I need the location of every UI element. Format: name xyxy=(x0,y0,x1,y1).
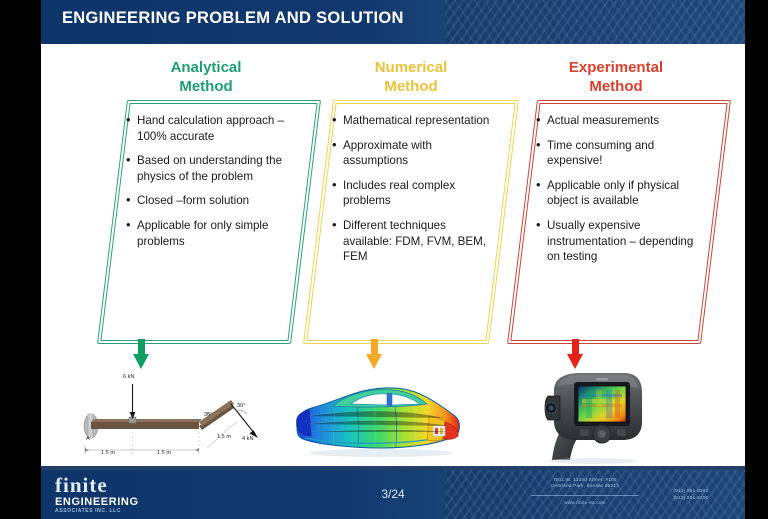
column-heading-analytical: Analytical Method xyxy=(111,58,301,96)
down-arrow-icon-experimental xyxy=(567,339,583,369)
beam-label-angle-2: 30° xyxy=(237,403,245,409)
bullet-list-analytical: Hand calculation approach – 100% accurat… xyxy=(126,113,292,249)
footer-address-block: 7811 W. 132nd Street, #100 Overland Park… xyxy=(525,477,645,506)
bullet-list-experimental: Actual measurements Time consuming and e… xyxy=(536,113,702,265)
content-box-analytical: Hand calculation approach – 100% accurat… xyxy=(97,100,321,344)
footer-phone-line2: (913) 851-8400 xyxy=(655,495,727,502)
list-item: Time consuming and expensive! xyxy=(536,138,702,169)
list-item: Applicable only if physical object is av… xyxy=(536,178,702,209)
list-item: Applicable for only simple problems xyxy=(126,218,292,249)
list-item: Hand calculation approach – 100% accurat… xyxy=(126,113,292,144)
beam-label-load-inclined: 4 kN xyxy=(242,436,254,442)
page-title: ENGINEERING PROBLEM AND SOLUTION xyxy=(62,9,404,28)
beam-label-angle-1: 30° xyxy=(204,412,212,418)
bullet-list-numerical: Mathematical representation Approximate … xyxy=(332,113,490,265)
column-heading-experimental-line2: Method xyxy=(521,77,711,96)
thermal-camera-svg xyxy=(536,366,656,464)
list-item: Closed –form solution xyxy=(126,193,292,209)
slide-footer-bar: finite ENGINEERING ASSOCIATES INC. LLC 3… xyxy=(41,470,745,519)
column-heading-numerical: Numerical Method xyxy=(316,58,506,96)
footer-rule xyxy=(531,495,639,496)
beam-label-dim-1: 1.5 m xyxy=(101,450,115,456)
list-item: Based on understanding the physics of th… xyxy=(126,153,292,184)
column-heading-experimental-line1: Experimental xyxy=(521,58,711,77)
beam-label-dim-3: 1.5 m xyxy=(217,434,231,440)
beam-diagram-figure: 6 kN 4 kN A 1.5 m 1.5 m 1.5 m 30° 30° xyxy=(79,370,269,462)
list-item: Approximate with assumptions xyxy=(332,138,490,169)
column-heading-experimental: Experimental Method xyxy=(521,58,711,96)
column-heading-analytical-line1: Analytical xyxy=(111,58,301,77)
list-item: Includes real complex problems xyxy=(332,178,490,209)
list-item: Mathematical representation xyxy=(332,113,490,129)
footer-address-line2: Overland Park, Kansas 66213 xyxy=(525,483,645,489)
car-fea-figure xyxy=(289,366,469,462)
beam-diagram-svg xyxy=(79,370,269,462)
content-box-experimental: Actual measurements Time consuming and e… xyxy=(507,100,731,344)
car-fea-svg xyxy=(289,366,469,462)
beam-label-load-vertical: 6 kN xyxy=(123,374,135,380)
column-heading-numerical-line2: Method xyxy=(316,77,506,96)
slide-canvas: ENGINEERING PROBLEM AND SOLUTION Analyti… xyxy=(41,0,745,519)
slide-header-bar: ENGINEERING PROBLEM AND SOLUTION xyxy=(41,0,745,44)
list-item: Usually expensive instrumentation – depe… xyxy=(536,218,702,265)
column-heading-numerical-line1: Numerical xyxy=(316,58,506,77)
beam-label-support: A xyxy=(86,436,90,442)
slide-viewer: ENGINEERING PROBLEM AND SOLUTION Analyti… xyxy=(0,0,768,519)
thermal-camera-figure xyxy=(536,366,656,464)
footer-phone-block: (913) 851-8282 (913) 851-8400 xyxy=(655,488,727,501)
content-box-numerical: Mathematical representation Approximate … xyxy=(303,100,519,344)
beam-label-dim-2: 1.5 m xyxy=(157,450,171,456)
column-heading-analytical-line2: Method xyxy=(111,77,301,96)
footer-phone-line1: (913) 851-8282 xyxy=(655,488,727,495)
header-texture xyxy=(445,0,745,44)
logo-subtitle-associates: ASSOCIATES INC. LLC xyxy=(55,508,183,515)
list-item: Actual measurements xyxy=(536,113,702,129)
down-arrow-icon-analytical xyxy=(133,339,149,369)
footer-website: www.finite-ea.com xyxy=(525,500,645,506)
down-arrow-icon-numerical xyxy=(366,339,382,369)
list-item: Different techniques available: FDM, FVM… xyxy=(332,218,490,265)
